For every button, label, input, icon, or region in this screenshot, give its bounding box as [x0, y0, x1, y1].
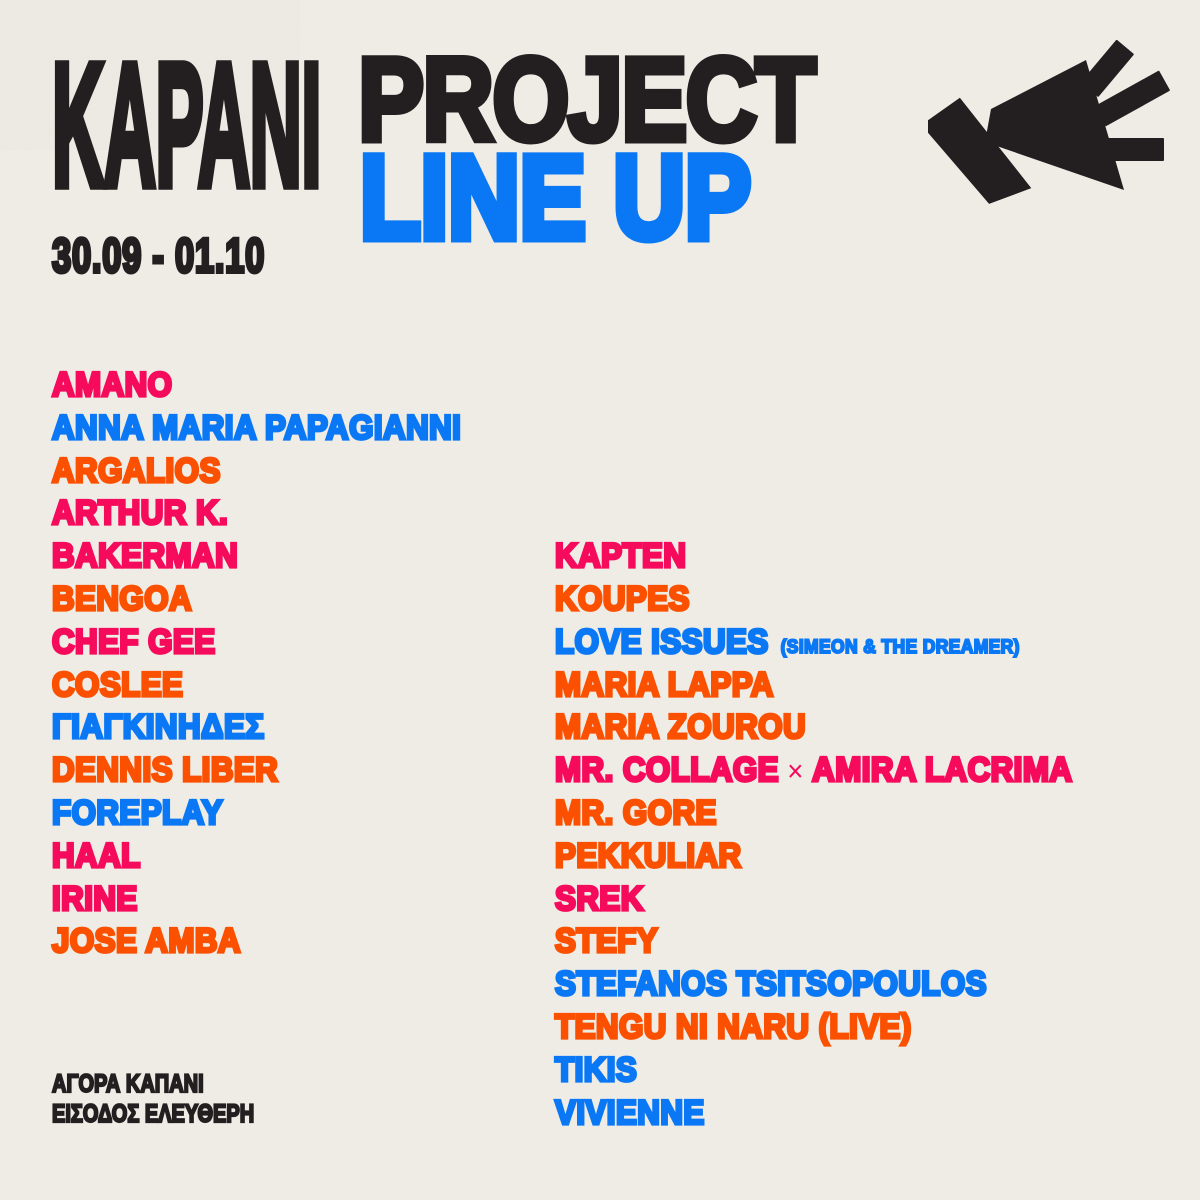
- venue-name: ΑΓΟΡΑ ΚΑΠΑΝΙ: [52, 1069, 388, 1099]
- artist-row: TENGU NI NARU (LIVE): [555, 1010, 912, 1044]
- artist-name: STEFY: [555, 922, 658, 960]
- artist-name: ARTHUR K.: [52, 494, 228, 532]
- artist-name: DENNIS LIBER: [52, 751, 278, 789]
- artist-name: BAKERMAN: [52, 537, 238, 575]
- artist-row: DENNIS LIBER: [52, 753, 278, 787]
- artist-row: ARTHUR K.: [52, 496, 228, 530]
- artist-collab-separator: ×: [787, 755, 804, 788]
- artist-name: ΓΙΑΓΚΙΝΗΔΕΣ: [52, 708, 265, 746]
- artist-row: MARIA ZOUROU: [555, 710, 806, 744]
- artist-row: KOUPES: [555, 582, 690, 616]
- artist-name: FOREPLAY: [52, 794, 223, 832]
- artist-row: COSLEE: [52, 668, 183, 702]
- entry-info: ΕΙΣΟΔΟΣ ΕΛΕΥΘΕΡΗ: [52, 1099, 388, 1129]
- artist-name: LOVE ISSUES: [555, 623, 769, 661]
- artist-row: HAAL: [52, 839, 141, 873]
- artist-row: STEFY: [555, 924, 658, 958]
- artist-name: ANNA MARIA PAPAGIANNI: [52, 409, 461, 447]
- artist-name: HAAL: [52, 837, 141, 875]
- artist-name: KAPTEN: [555, 537, 686, 575]
- artist-row: PEKKULIAR: [555, 839, 742, 873]
- artist-name: SREK: [555, 880, 644, 918]
- artist-name: IRINE: [52, 880, 138, 918]
- lineup-lists: AMANOANNA MARIA PAPAGIANNIARGALIOSARTHUR…: [0, 0, 1200, 1200]
- artist-name: ARGALIOS: [52, 452, 221, 490]
- artist-name-secondary: AMIRA LACRIMA: [812, 751, 1072, 789]
- artist-row: SREK: [555, 882, 644, 916]
- artist-subtitle: (SIMEON & THE DREAMER): [781, 637, 1020, 658]
- artist-row: TIKIS: [555, 1053, 637, 1087]
- artist-name: TENGU NI NARU (LIVE): [555, 1008, 912, 1046]
- artist-name: VIVIENNE: [555, 1094, 705, 1132]
- artist-row: IRINE: [52, 882, 138, 916]
- poster-footer: ΑΓΟΡΑ ΚΑΠΑΝΙ ΕΙΣΟΔΟΣ ΕΛΕΥΘΕΡΗ: [52, 1069, 472, 1129]
- artist-row: VIVIENNE: [555, 1096, 705, 1130]
- artist-row: MARIA LAPPA: [555, 668, 774, 702]
- artist-name: STEFANOS TSITSOPOULOS: [555, 965, 987, 1003]
- artist-row: STEFANOS TSITSOPOULOS: [555, 967, 987, 1001]
- poster-canvas: KAPANI PROJECT LINE UP 30.09 - 01.10 AMA…: [0, 0, 1200, 1200]
- artist-name: MARIA LAPPA: [555, 666, 774, 704]
- artist-name: MR. COLLAGE: [555, 751, 779, 789]
- artist-name: AMANO: [52, 366, 172, 404]
- artist-name: CHEF GEE: [52, 623, 216, 661]
- artist-name: COSLEE: [52, 666, 183, 704]
- artist-row: ΓΙΑΓΚΙΝΗΔΕΣ: [52, 710, 265, 744]
- artist-row: BENGOA: [52, 582, 192, 616]
- artist-name: BENGOA: [52, 580, 192, 618]
- artist-row: BAKERMAN: [52, 539, 238, 573]
- artist-row: ARGALIOS: [52, 454, 221, 488]
- artist-row: MR. GORE: [555, 796, 717, 830]
- artist-name: KOUPES: [555, 580, 690, 618]
- artist-name: PEKKULIAR: [555, 837, 742, 875]
- artist-row: JOSE AMBA: [52, 924, 241, 958]
- artist-name: JOSE AMBA: [52, 922, 241, 960]
- artist-row: CHEF GEE: [52, 625, 216, 659]
- artist-name: MARIA ZOUROU: [555, 708, 806, 746]
- artist-name: MR. GORE: [555, 794, 717, 832]
- artist-name: TIKIS: [555, 1051, 637, 1089]
- artist-row: ANNA MARIA PAPAGIANNI: [52, 411, 461, 445]
- artist-row: MR. COLLAGE×AMIRA LACRIMA: [555, 753, 1072, 789]
- artist-row: LOVE ISSUES(SIMEON & THE DREAMER): [555, 625, 1020, 665]
- artist-row: KAPTEN: [555, 539, 686, 573]
- artist-row: FOREPLAY: [52, 796, 223, 830]
- artist-row: AMANO: [52, 368, 172, 402]
